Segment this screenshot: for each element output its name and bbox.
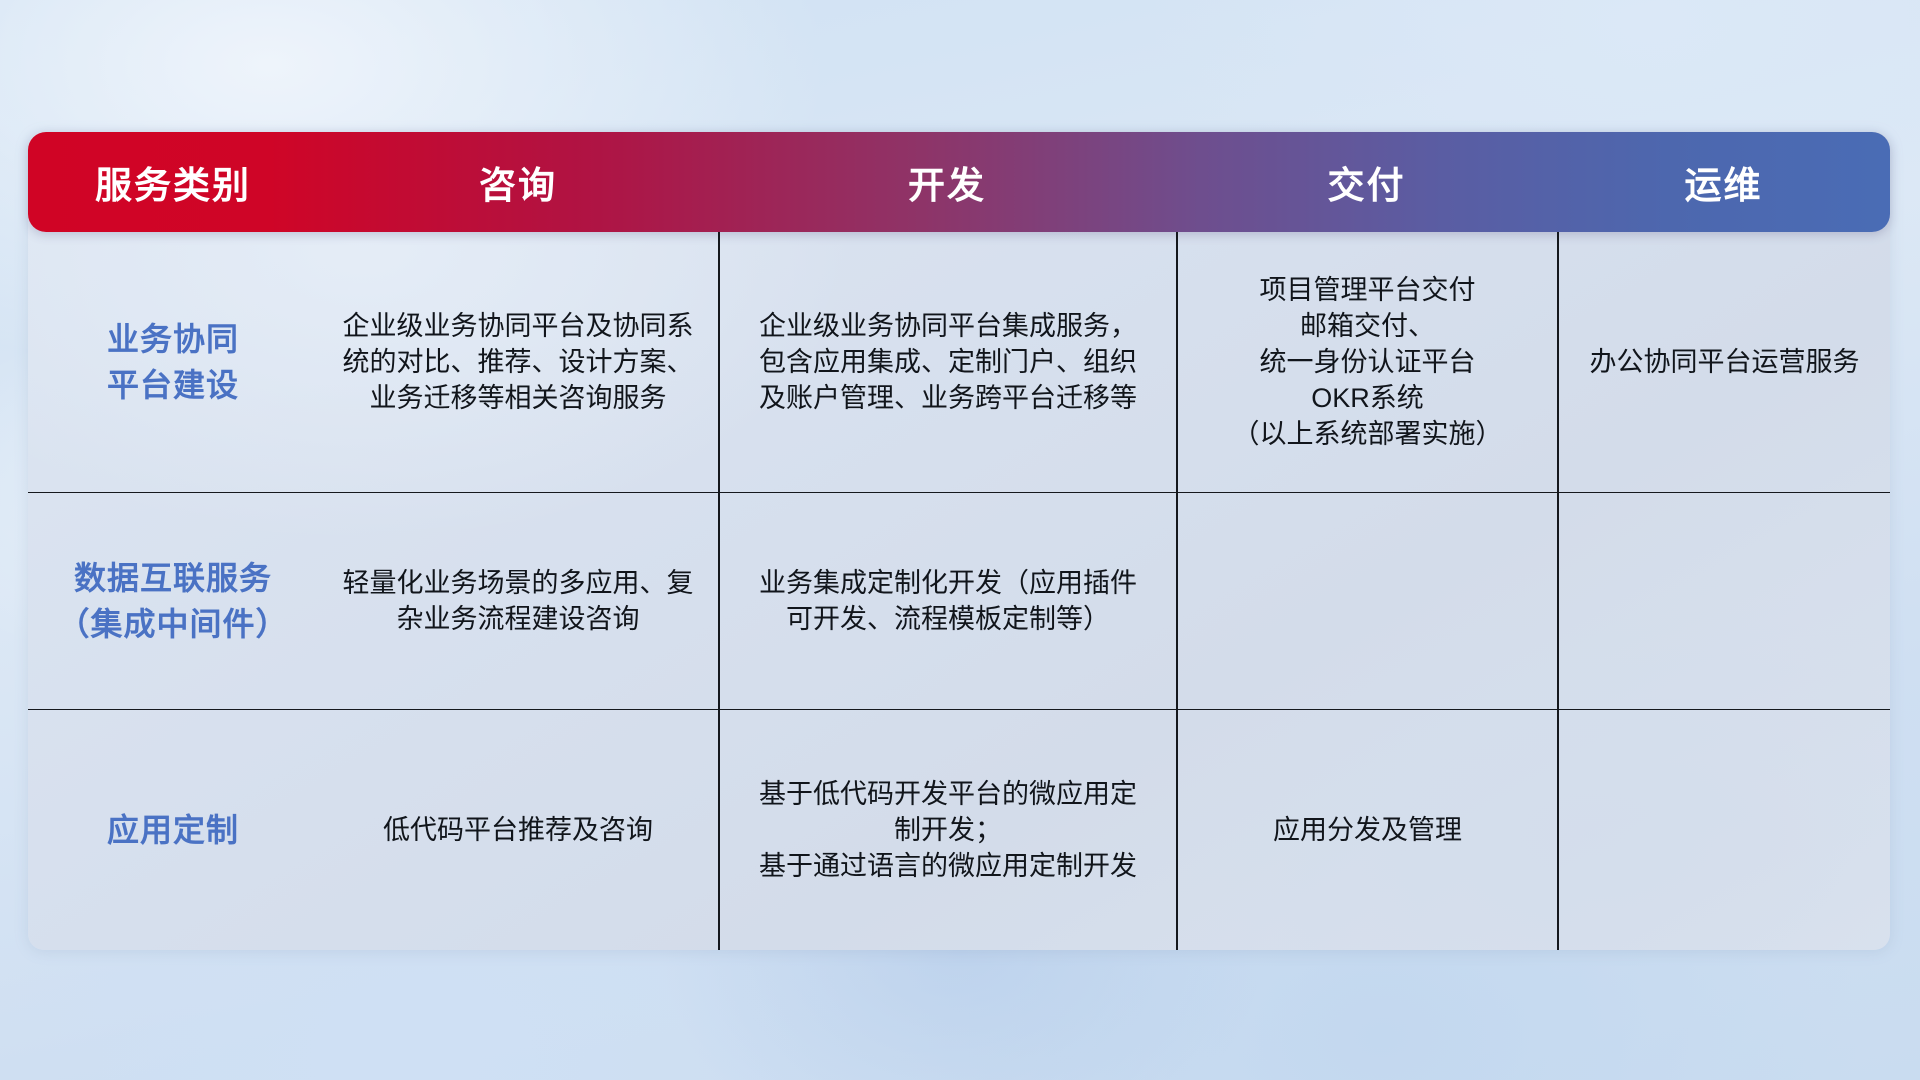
table-header-row: 服务类别 咨询 开发 交付 运维 — [28, 132, 1890, 232]
cell-delivery — [1176, 493, 1557, 709]
cell-development: 基于低代码开发平台的微应用定 制开发； 基于通过语言的微应用定制开发 — [718, 710, 1176, 950]
row-category-label: 应用定制 — [28, 710, 318, 950]
table-row: 业务协同 平台建设 企业级业务协同平台及协同系 统的对比、推荐、设计方案、 业务… — [28, 232, 1890, 492]
table-body: 业务协同 平台建设 企业级业务协同平台及协同系 统的对比、推荐、设计方案、 业务… — [28, 232, 1890, 950]
row-category-label: 业务协同 平台建设 — [28, 232, 318, 492]
header-cell-operations: 运维 — [1557, 155, 1890, 209]
cell-consulting: 轻量化业务场景的多应用、复 杂业务流程建设咨询 — [318, 493, 718, 709]
header-cell-development: 开发 — [718, 155, 1176, 209]
table-row: 应用定制 低代码平台推荐及咨询 基于低代码开发平台的微应用定 制开发； 基于通过… — [28, 709, 1890, 950]
cell-operations — [1557, 710, 1890, 950]
cell-development: 企业级业务协同平台集成服务， 包含应用集成、定制门户、组织 及账户管理、业务跨平… — [718, 232, 1176, 492]
cell-operations: 办公协同平台运营服务 — [1557, 232, 1890, 492]
cell-delivery: 项目管理平台交付 邮箱交付、 统一身份认证平台 OKR系统 （以上系统部署实施） — [1176, 232, 1557, 492]
cell-consulting: 企业级业务协同平台及协同系 统的对比、推荐、设计方案、 业务迁移等相关咨询服务 — [318, 232, 718, 492]
header-cell-consulting: 咨询 — [318, 155, 718, 209]
header-cell-category: 服务类别 — [28, 155, 318, 209]
header-cell-delivery: 交付 — [1176, 155, 1557, 209]
row-category-label: 数据互联服务 （集成中间件） — [28, 493, 318, 709]
cell-delivery: 应用分发及管理 — [1176, 710, 1557, 950]
cell-operations — [1557, 493, 1890, 709]
cell-development: 业务集成定制化开发（应用插件 可开发、流程模板定制等） — [718, 493, 1176, 709]
table-row: 数据互联服务 （集成中间件） 轻量化业务场景的多应用、复 杂业务流程建设咨询 业… — [28, 492, 1890, 709]
cell-consulting: 低代码平台推荐及咨询 — [318, 710, 718, 950]
